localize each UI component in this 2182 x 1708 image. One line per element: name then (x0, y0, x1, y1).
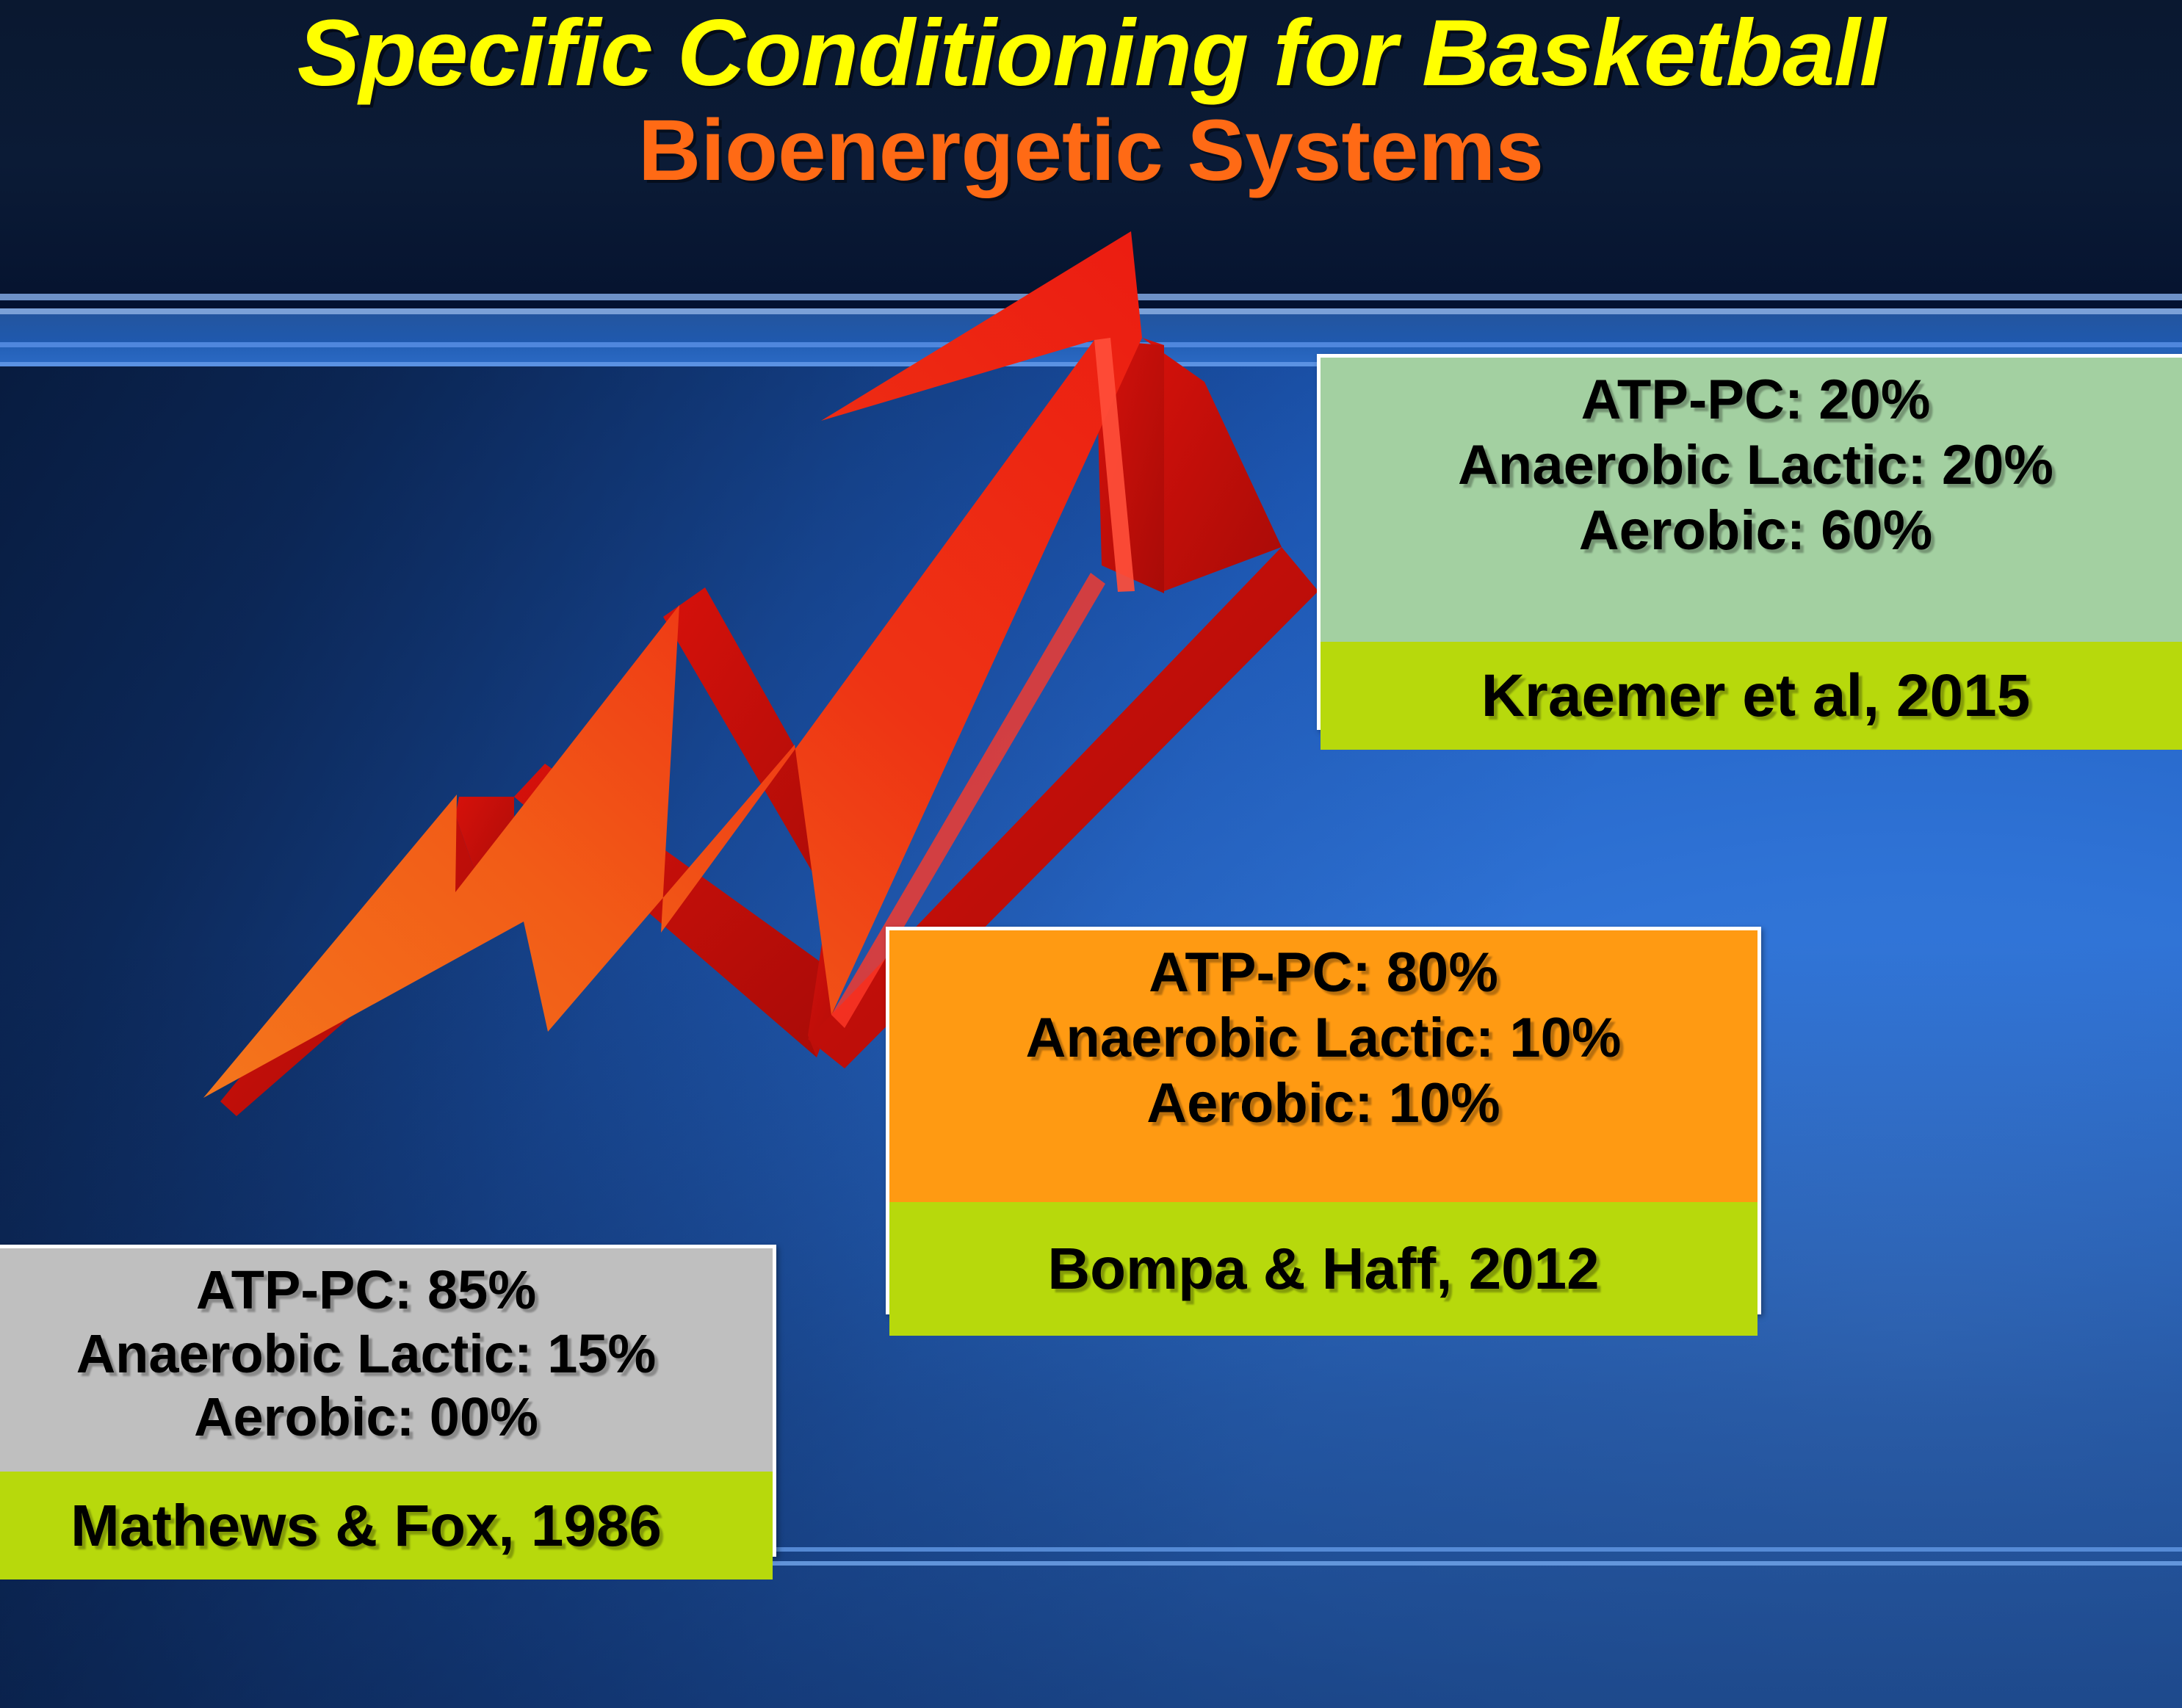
callout-line: Anaerobic Lactic: 15% (0, 1322, 765, 1386)
callout-bompa: ATP-PC: 80% Anaerobic Lactic: 10% Aerobi… (886, 927, 1761, 1314)
callout-line: Aerobic: 60% (1328, 499, 2182, 564)
page-title: Specific Conditioning for Basketball (297, 6, 1885, 102)
presentation-slide: Specific Conditioning for Basketball Bio… (0, 0, 2182, 1708)
callout-kraemer: ATP-PC: 20% Anaerobic Lactic: 20% Aerobi… (1317, 354, 2182, 730)
callout-line: Aerobic: 10% (897, 1071, 1750, 1137)
divider-line-3 (0, 308, 2182, 314)
callout-line: Aerobic: 00% (0, 1386, 765, 1450)
callout-line: Anaerobic Lactic: 10% (897, 1006, 1750, 1071)
callout-line: Anaerobic Lactic: 20% (1328, 433, 2182, 499)
callout-line: ATP-PC: 85% (0, 1259, 765, 1322)
callout-bompa-citation: Bompa & Haff, 2012 (889, 1202, 1757, 1336)
callout-mathews: ATP-PC: 85% Anaerobic Lactic: 15% Aerobi… (0, 1245, 776, 1557)
callout-line: ATP-PC: 80% (897, 941, 1750, 1006)
slide-title-block: Specific Conditioning for Basketball Bio… (0, 0, 2182, 294)
divider-line-1 (0, 294, 2182, 300)
callout-line: ATP-PC: 20% (1328, 368, 2182, 433)
callout-bompa-body: ATP-PC: 80% Anaerobic Lactic: 10% Aerobi… (889, 930, 1757, 1202)
callout-mathews-body: ATP-PC: 85% Anaerobic Lactic: 15% Aerobi… (0, 1248, 773, 1472)
page-subtitle: Bioenergetic Systems (638, 102, 1544, 199)
divider-line-4 (0, 314, 2182, 342)
callout-kraemer-citation: Kraemer et al, 2015 (1321, 642, 2182, 750)
divider-line-2 (0, 300, 2182, 308)
callout-mathews-citation: Mathews & Fox, 1986 (0, 1472, 773, 1579)
callout-kraemer-body: ATP-PC: 20% Anaerobic Lactic: 20% Aerobi… (1321, 358, 2182, 642)
divider-line-5 (0, 342, 2182, 347)
